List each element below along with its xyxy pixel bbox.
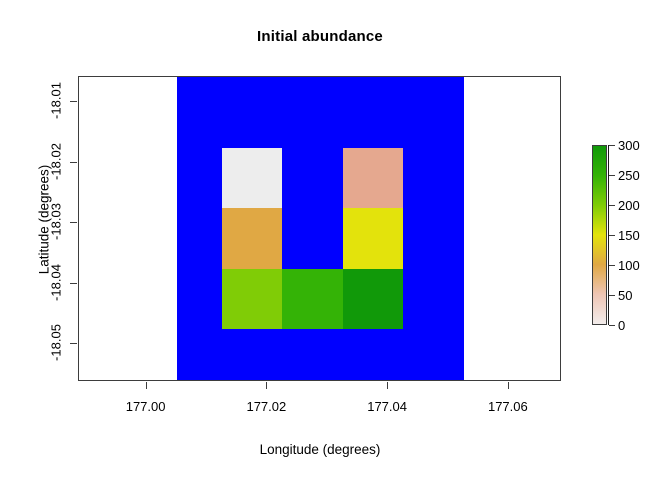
- raster-cell: [222, 148, 282, 209]
- x-tick-label: 177.00: [106, 399, 186, 414]
- page-title: Initial abundance: [0, 28, 640, 45]
- raster-cell: [343, 208, 403, 269]
- colorbar-tick-label: 100: [618, 259, 640, 272]
- y-tick-mark: [70, 283, 77, 284]
- x-tick-label: 177.02: [226, 399, 306, 414]
- x-tick-label: 177.04: [347, 399, 427, 414]
- colorbar-tick-mark: [609, 235, 615, 236]
- raster-cell: [343, 148, 403, 209]
- colorbar-tick-mark: [609, 145, 615, 146]
- colorbar-tick-label: 0: [618, 319, 625, 332]
- colorbar-tick-label: 150: [618, 229, 640, 242]
- y-tick-mark: [70, 101, 77, 102]
- colorbar-tick-mark: [609, 205, 615, 206]
- y-tick-mark: [70, 222, 77, 223]
- colorbar-tick-mark: [609, 325, 615, 326]
- y-axis-label: Latitude (degrees): [37, 130, 52, 310]
- y-tick-mark: [70, 162, 77, 163]
- y-tick-label: -18.05: [49, 303, 64, 383]
- x-tick-mark: [146, 382, 147, 389]
- colorbar-gradient: [592, 145, 607, 325]
- x-tick-label: 177.06: [468, 399, 548, 414]
- plot-panel: [78, 76, 561, 381]
- colorbar-tick-label: 50: [618, 289, 632, 302]
- x-axis-label: Longitude (degrees): [0, 442, 640, 457]
- colorbar-tick-mark: [609, 175, 615, 176]
- colorbar-tick-mark: [609, 265, 615, 266]
- y-tick-mark: [70, 343, 77, 344]
- colorbar-tick-mark: [609, 295, 615, 296]
- x-tick-mark: [266, 382, 267, 389]
- colorbar-tick-label: 300: [618, 139, 640, 152]
- study-area-rect: [177, 77, 464, 381]
- raster-cell: [222, 208, 282, 269]
- raster-cell: [343, 269, 403, 330]
- colorbar-legend: 050100150200250300: [592, 145, 662, 325]
- x-tick-mark: [508, 382, 509, 389]
- raster-cell: [222, 269, 282, 330]
- x-tick-mark: [387, 382, 388, 389]
- colorbar-tick-label: 200: [618, 199, 640, 212]
- colorbar-tick-label: 250: [618, 169, 640, 182]
- raster-cell: [282, 269, 342, 330]
